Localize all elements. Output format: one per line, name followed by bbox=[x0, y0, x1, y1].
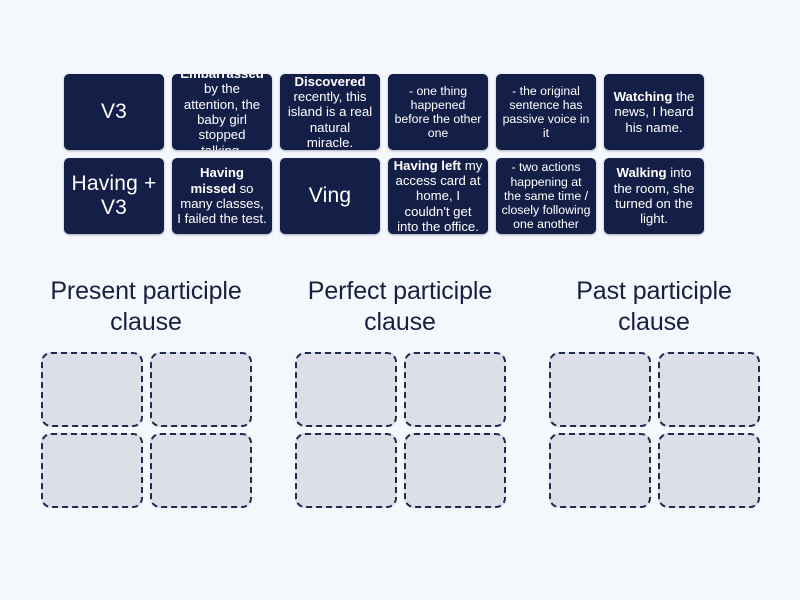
drop-slot[interactable] bbox=[658, 433, 760, 508]
drop-slot[interactable] bbox=[404, 433, 506, 508]
tile-two-actions[interactable]: - two actions happening at the same time… bbox=[496, 158, 596, 234]
drop-slot[interactable] bbox=[295, 352, 397, 427]
tile-watching[interactable]: Watching the news, I heard his name. bbox=[604, 74, 704, 150]
tile-text: - one thing happened before the other on… bbox=[393, 84, 483, 141]
tile-having-v3[interactable]: Having + V3 bbox=[64, 158, 164, 234]
tile-row-1: V3 Embarrassed by the attention, the bab… bbox=[64, 74, 740, 150]
drop-zone-group-perfect[interactable] bbox=[295, 352, 506, 508]
drop-zone-group-present[interactable] bbox=[41, 352, 252, 508]
category-perfect-participle-clause: Perfect participle clause bbox=[280, 276, 520, 508]
drop-slot[interactable] bbox=[549, 433, 651, 508]
group-sort-activity: V3 Embarrassed by the attention, the bab… bbox=[0, 0, 800, 600]
drop-slot[interactable] bbox=[295, 433, 397, 508]
tile-ving[interactable]: Ving bbox=[280, 158, 380, 234]
tile-text: Having missed so many classes, I failed … bbox=[177, 165, 267, 226]
drop-slot[interactable] bbox=[549, 352, 651, 427]
tile-text: Walking into the room, she turned on the… bbox=[609, 165, 699, 226]
tile-text: Having + V3 bbox=[69, 172, 159, 221]
drop-slot[interactable] bbox=[404, 352, 506, 427]
tile-text: Having left my access card at home, I co… bbox=[393, 158, 483, 234]
tile-text: V3 bbox=[69, 100, 159, 124]
tile-v3[interactable]: V3 bbox=[64, 74, 164, 150]
drop-slot[interactable] bbox=[41, 433, 143, 508]
drop-slot[interactable] bbox=[150, 433, 252, 508]
tile-text: Ving bbox=[285, 184, 375, 208]
tile-text: - two actions happening at the same time… bbox=[501, 160, 591, 231]
tile-text: - the original sentence has passive voic… bbox=[501, 84, 591, 141]
tile-text: Discovered recently, this island is a re… bbox=[285, 74, 375, 150]
tile-walking[interactable]: Walking into the room, she turned on the… bbox=[604, 158, 704, 234]
tile-passive-voice[interactable]: - the original sentence has passive voic… bbox=[496, 74, 596, 150]
drop-slot[interactable] bbox=[658, 352, 760, 427]
tile-one-thing-before[interactable]: - one thing happened before the other on… bbox=[388, 74, 488, 150]
tile-embarrassed[interactable]: Embarrassed by the attention, the baby g… bbox=[172, 74, 272, 150]
category-columns: Present participle clause Perfect partic… bbox=[0, 276, 800, 508]
tile-text: Watching the news, I heard his name. bbox=[609, 89, 699, 135]
drop-zone-group-past[interactable] bbox=[549, 352, 760, 508]
category-present-participle-clause: Present participle clause bbox=[26, 276, 266, 508]
tile-having-left[interactable]: Having left my access card at home, I co… bbox=[388, 158, 488, 234]
category-title: Perfect participle clause bbox=[285, 276, 515, 337]
drop-slot[interactable] bbox=[150, 352, 252, 427]
draggable-tiles-area: V3 Embarrassed by the attention, the bab… bbox=[64, 74, 740, 234]
category-past-participle-clause: Past participle clause bbox=[534, 276, 774, 508]
drop-slot[interactable] bbox=[41, 352, 143, 427]
tile-text: Embarrassed by the attention, the baby g… bbox=[177, 74, 267, 150]
tile-row-2: Having + V3 Having missed so many classe… bbox=[64, 158, 740, 234]
category-title: Present participle clause bbox=[31, 276, 261, 337]
tile-discovered[interactable]: Discovered recently, this island is a re… bbox=[280, 74, 380, 150]
category-title: Past participle clause bbox=[539, 276, 769, 337]
tile-having-missed[interactable]: Having missed so many classes, I failed … bbox=[172, 158, 272, 234]
